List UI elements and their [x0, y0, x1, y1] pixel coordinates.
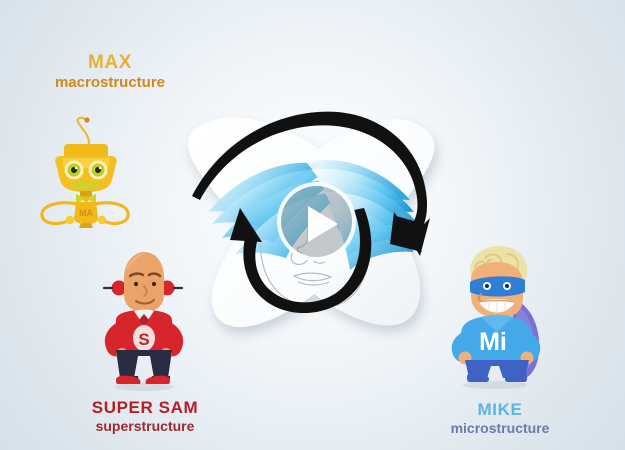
svg-text:MA: MA — [79, 208, 93, 218]
svg-text:Mi: Mi — [479, 328, 507, 356]
label-max-subtitle: macrostructure — [0, 74, 220, 92]
svg-text:S: S — [138, 330, 149, 349]
character-max: MA — [36, 118, 134, 228]
label-max-name: MAX — [0, 52, 220, 74]
label-mike-subtitle: microstructure — [385, 420, 615, 437]
label-mike-name: MIKE — [385, 400, 615, 420]
play-triangle-icon — [308, 206, 338, 242]
video-frame: MA — [0, 0, 625, 450]
play-button[interactable] — [277, 182, 356, 261]
label-mike: MIKE microstructure — [385, 400, 615, 437]
label-super-sam: SUPER SAM superstructure — [25, 398, 265, 435]
label-max: MAX macrostructure — [0, 52, 220, 92]
label-super-sam-name: SUPER SAM — [25, 398, 265, 418]
label-super-sam-subtitle: superstructure — [25, 418, 265, 435]
character-mike: Mi — [441, 240, 549, 390]
character-super-sam: S — [92, 244, 194, 392]
